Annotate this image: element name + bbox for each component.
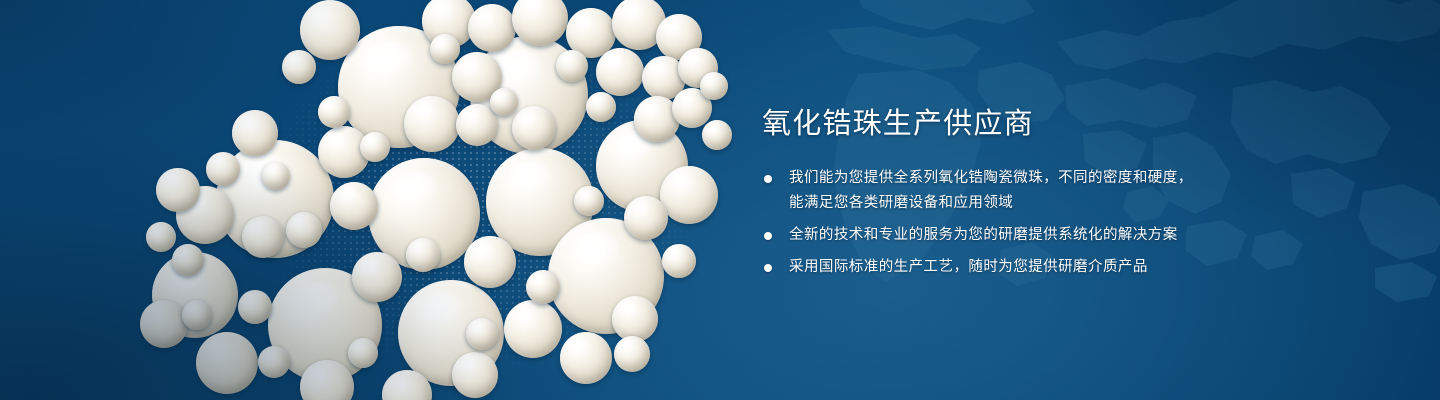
list-item: 采用国际标准的生产工艺，随时为您提供研磨介质产品 <box>762 255 1282 280</box>
bullet-dot-icon <box>764 232 772 240</box>
bullet-dot-icon <box>764 264 772 272</box>
list-item-line: 采用国际标准的生产工艺，随时为您提供研磨介质产品 <box>789 255 1282 280</box>
page-title: 氧化锆珠生产供应商 <box>762 104 1282 144</box>
feature-list: 我们能为您提供全系列氧化锆陶瓷微珠，不同的密度和硬度， 能满足您各类研磨设备和应… <box>762 166 1282 280</box>
list-item-line: 能满足您各类研磨设备和应用领域 <box>789 191 1282 216</box>
list-item: 我们能为您提供全系列氧化锆陶瓷微珠，不同的密度和硬度， 能满足您各类研磨设备和应… <box>762 166 1282 216</box>
banner-content: 氧化锆珠生产供应商 我们能为您提供全系列氧化锆陶瓷微珠，不同的密度和硬度， 能满… <box>762 104 1282 280</box>
hero-banner: 氧化锆珠生产供应商 我们能为您提供全系列氧化锆陶瓷微珠，不同的密度和硬度， 能满… <box>0 0 1440 400</box>
list-item: 全新的技术和专业的服务为您的研磨提供系统化的解决方案 <box>762 223 1282 248</box>
list-item-line: 我们能为您提供全系列氧化锆陶瓷微珠，不同的密度和硬度， <box>789 166 1282 191</box>
list-item-line: 全新的技术和专业的服务为您的研磨提供系统化的解决方案 <box>789 223 1282 248</box>
bullet-dot-icon <box>764 175 772 183</box>
